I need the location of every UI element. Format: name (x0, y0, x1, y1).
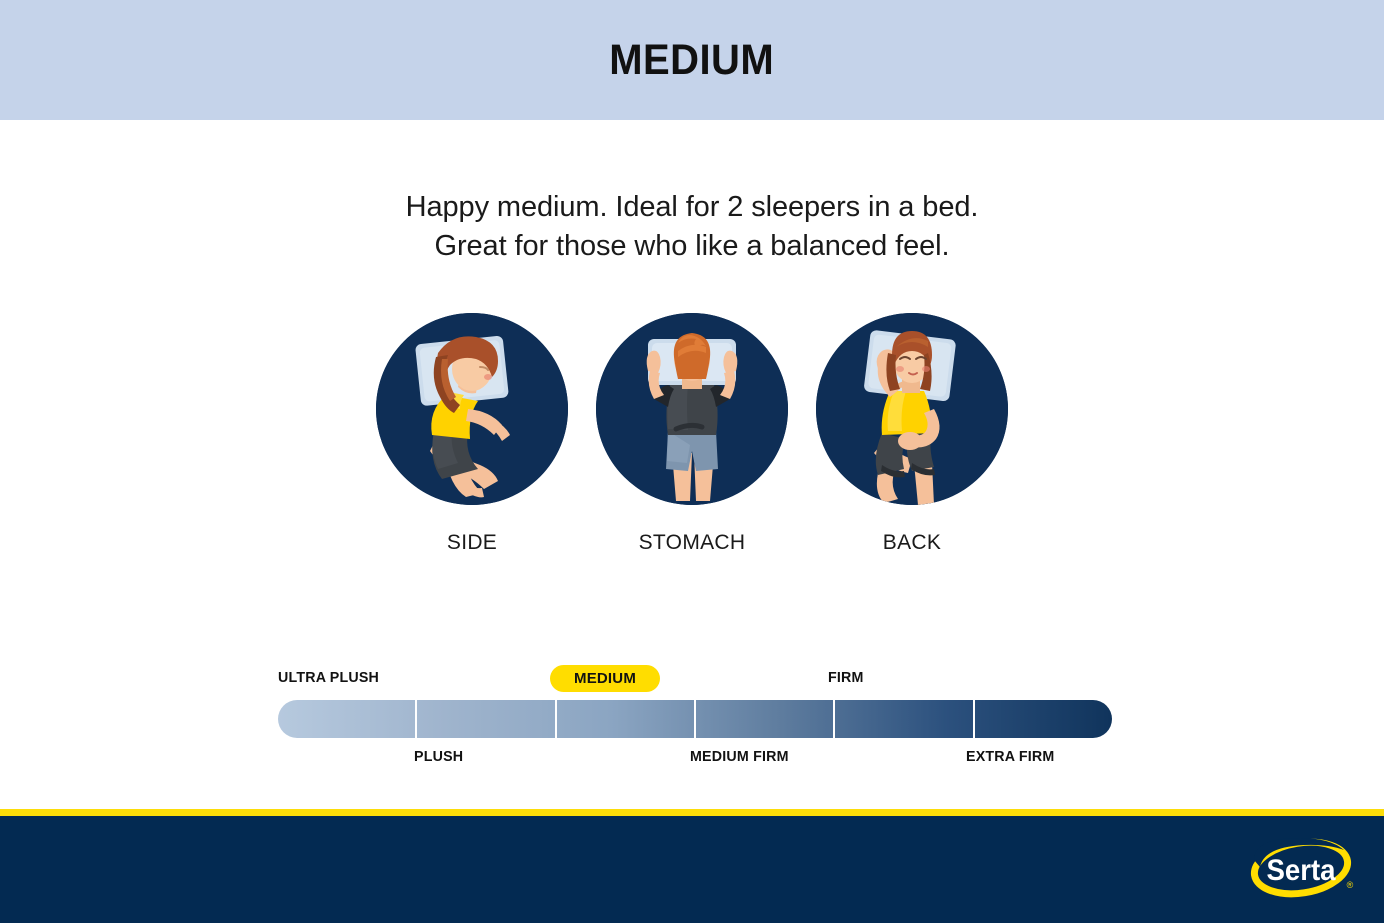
scale-label-plush: PLUSH (414, 748, 463, 765)
sleep-position-stomach: STOMACH (596, 313, 788, 555)
description-line-1: Happy medium. Ideal for 2 sleepers in a … (0, 188, 1384, 227)
firmness-segment-medium[interactable] (557, 700, 696, 738)
scale-label-ultra-plush: ULTRA PLUSH (278, 669, 379, 686)
firmness-segment-plush[interactable] (417, 700, 556, 738)
scale-label-extra-firm: EXTRA FIRM (966, 748, 1054, 765)
sleep-position-label: SIDE (376, 531, 568, 555)
firmness-segment-medium-firm[interactable] (696, 700, 835, 738)
header-banner: MEDIUM (0, 0, 1384, 120)
firmness-gradient-bar[interactable] (278, 700, 1112, 738)
firmness-segment-extra-firm[interactable] (975, 700, 1112, 738)
scale-label-medium-firm: MEDIUM FIRM (690, 748, 789, 765)
status-badge-medium[interactable]: MEDIUM (550, 665, 660, 692)
serta-logo[interactable]: Serta ® (1248, 838, 1360, 900)
firmness-segment-ultra-plush[interactable] (278, 700, 417, 738)
sleep-positions-group: SIDE (376, 313, 1008, 573)
footer-accent-stripe (0, 809, 1384, 816)
sleep-position-label: STOMACH (596, 531, 788, 555)
firmness-info-slide: MEDIUM Happy medium. Ideal for 2 sleeper… (0, 0, 1384, 923)
sleep-position-back: BACK (816, 313, 1008, 555)
firmness-scale: ULTRA PLUSH MEDIUM FIRM PLUSH MEDIUM FIR… (278, 660, 1112, 770)
svg-text:Serta: Serta (1266, 854, 1336, 887)
firmness-segment-firm[interactable] (835, 700, 974, 738)
footer-bar: Serta ® (0, 816, 1384, 923)
back-sleeper-icon (816, 313, 1008, 505)
sleep-position-side: SIDE (376, 313, 568, 555)
stomach-sleeper-icon (596, 313, 788, 505)
side-sleeper-icon (376, 313, 568, 505)
description-line-2: Great for those who like a balanced feel… (0, 227, 1384, 266)
svg-text:®: ® (1347, 880, 1354, 890)
scale-label-firm: FIRM (828, 669, 864, 686)
page-title: MEDIUM (610, 36, 775, 85)
sleep-position-label: BACK (816, 531, 1008, 555)
description-text: Happy medium. Ideal for 2 sleepers in a … (0, 188, 1384, 266)
